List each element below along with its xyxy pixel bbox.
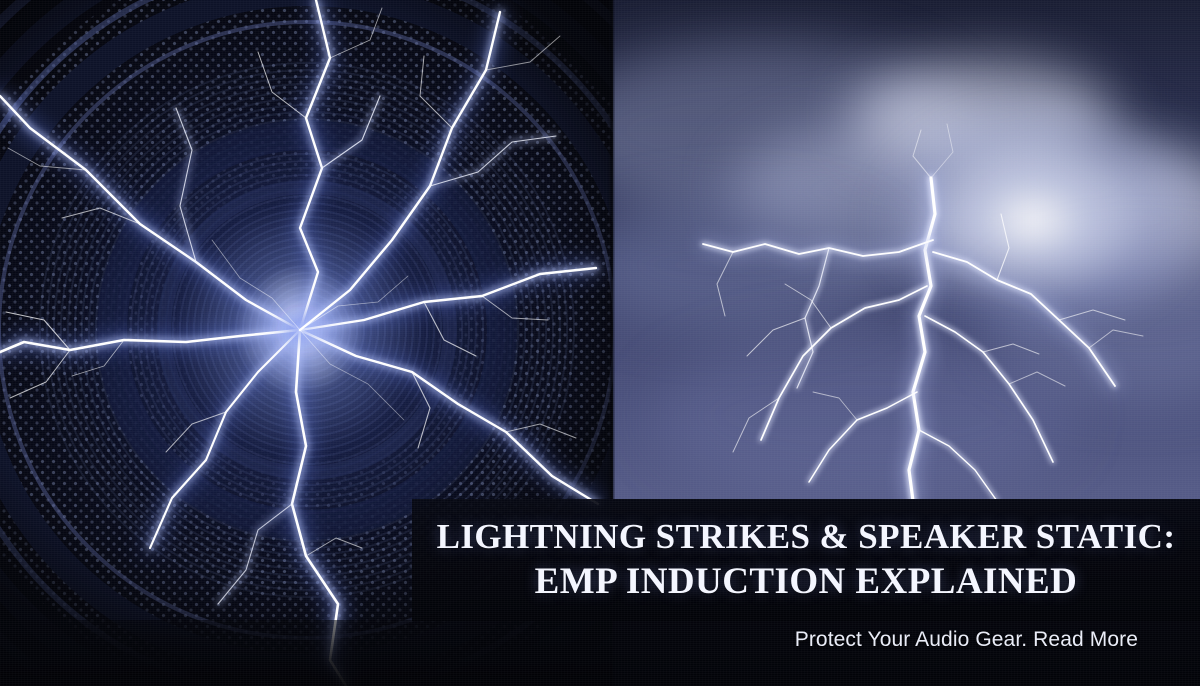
bottom-dark-band-left [0, 620, 613, 686]
subtitle-cta-link[interactable]: Protect Your Audio Gear. Read More [795, 628, 1138, 652]
title-block: LIGHTNING STRIKES & SPEAKER STATIC: EMP … [412, 499, 1200, 621]
headline-line-1: LIGHTNING STRIKES & SPEAKER STATIC: [437, 515, 1176, 559]
lightning-bolt-main [703, 124, 1143, 501]
image-seam-divider [608, 0, 615, 501]
promo-banner: LIGHTNING STRIKES & SPEAKER STATIC: EMP … [0, 0, 1200, 686]
storm-image-panel [613, 0, 1200, 501]
headline-line-2: EMP INDUCTION EXPLAINED [535, 559, 1078, 605]
lightning-bolt-graphic [613, 0, 1200, 501]
